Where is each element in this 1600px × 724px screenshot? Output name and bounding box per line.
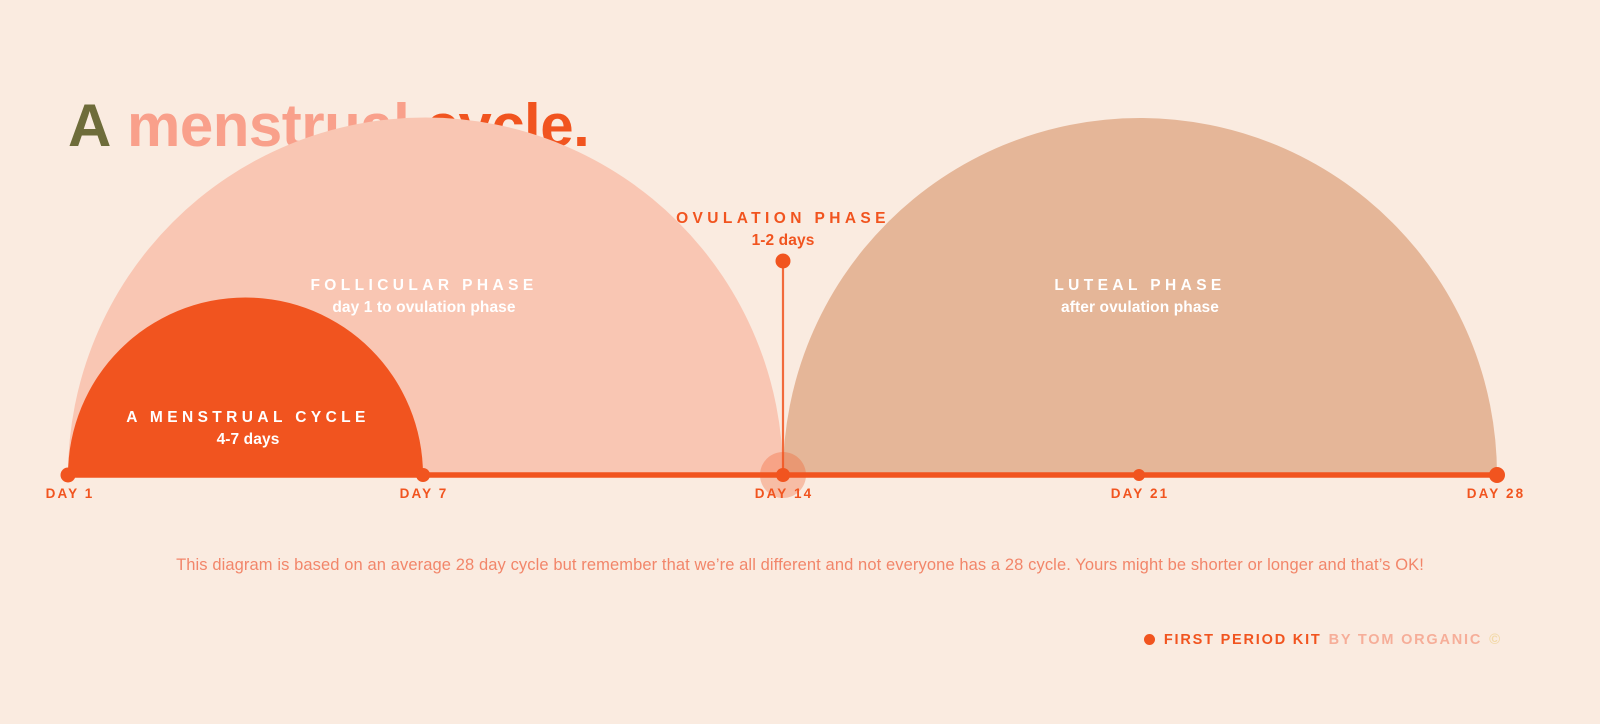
ovulation-top-dot bbox=[776, 254, 791, 269]
day-marker-dot-14 bbox=[776, 468, 790, 482]
brand-name: FIRST PERIOD KIT bbox=[1164, 632, 1322, 648]
copyright-icon: © bbox=[1489, 631, 1502, 648]
axis-label-day-28: DAY 28 bbox=[1467, 486, 1525, 501]
day-marker-dot-7 bbox=[416, 468, 430, 482]
day-marker-dot-21 bbox=[1133, 469, 1145, 481]
day-marker-dot-1 bbox=[61, 468, 76, 483]
bullet-dot-icon bbox=[1144, 634, 1155, 645]
axis-label-day-1: DAY 1 bbox=[46, 486, 95, 501]
day-marker-dot-28 bbox=[1489, 467, 1505, 483]
cycle-diagram-svg bbox=[0, 0, 1600, 724]
axis-label-day-7: DAY 7 bbox=[400, 486, 449, 501]
axis-label-day-21: DAY 21 bbox=[1111, 486, 1169, 501]
axis-label-day-14: DAY 14 bbox=[755, 486, 813, 501]
footer-branding: FIRST PERIOD KIT BY TOM ORGANIC © bbox=[1144, 631, 1502, 648]
luteal-phase-arc bbox=[783, 118, 1497, 475]
menstrual-cycle-diagram: A MENSTRUAL CYCLE 4-7 days FOLLICULAR PH… bbox=[0, 0, 1600, 724]
diagram-caption: This diagram is based on an average 28 d… bbox=[0, 556, 1600, 575]
brand-byline: BY TOM ORGANIC bbox=[1329, 632, 1483, 648]
